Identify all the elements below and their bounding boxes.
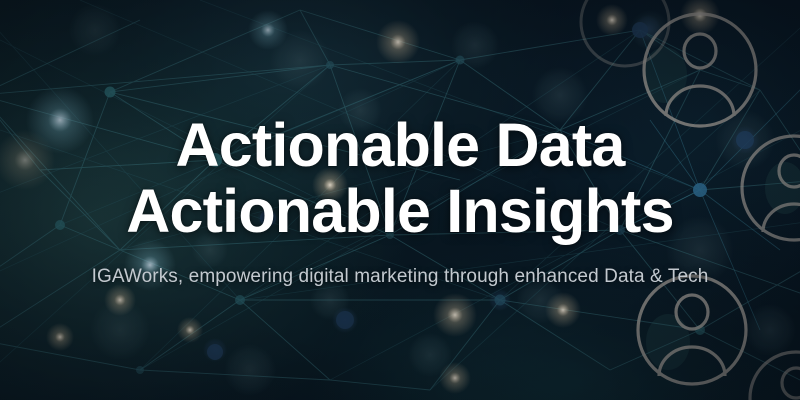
banner-content: Actionable Data Actionable Insights IGAW…	[0, 0, 800, 400]
page-subtitle: IGAWorks, empowering digital marketing t…	[92, 265, 709, 289]
hero-banner: Actionable Data Actionable Insights IGAW…	[0, 0, 800, 400]
headline-line-2: Actionable Insights	[126, 178, 673, 244]
page-title: Actionable Data Actionable Insights	[126, 112, 673, 244]
headline-line-1: Actionable Data	[126, 112, 673, 178]
